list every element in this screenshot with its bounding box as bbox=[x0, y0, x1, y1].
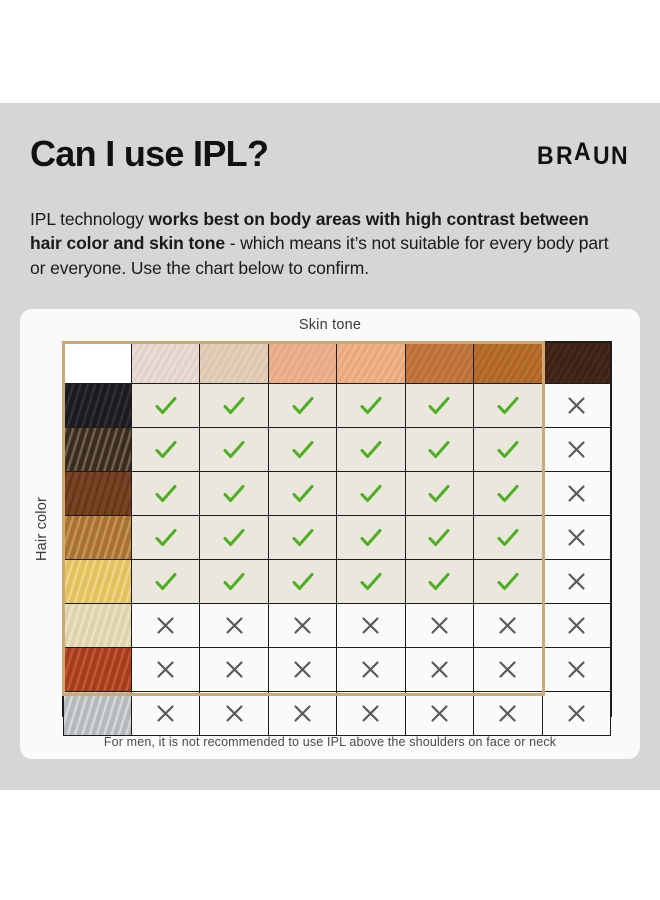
hair-color-cell bbox=[64, 692, 132, 736]
matrix-cell-cross bbox=[200, 604, 268, 648]
braun-logo: BRAUN bbox=[537, 141, 630, 171]
skin-tone-5-medium-dark bbox=[406, 343, 473, 383]
hair-brown bbox=[64, 472, 131, 515]
matrix-cell-cross bbox=[542, 648, 610, 692]
check-icon bbox=[223, 528, 245, 548]
check-icon bbox=[428, 572, 450, 592]
matrix-cell-cross bbox=[542, 560, 610, 604]
matrix-cell-check bbox=[268, 384, 336, 428]
matrix-cell-check bbox=[474, 560, 542, 604]
hair-color-cell bbox=[64, 648, 132, 692]
check-icon bbox=[428, 440, 450, 460]
check-icon bbox=[223, 572, 245, 592]
cross-icon bbox=[225, 616, 244, 635]
matrix-cell-cross bbox=[405, 604, 473, 648]
matrix-cell-cross bbox=[474, 604, 542, 648]
cross-icon bbox=[567, 528, 586, 547]
skin-tone-6-dark bbox=[474, 343, 541, 383]
hair-dark-brown bbox=[64, 428, 131, 471]
cross-icon bbox=[225, 660, 244, 679]
check-icon bbox=[223, 484, 245, 504]
cross-icon bbox=[361, 660, 380, 679]
cross-icon bbox=[156, 660, 175, 679]
table-row bbox=[64, 516, 611, 560]
cross-icon bbox=[225, 704, 244, 723]
cross-icon bbox=[567, 660, 586, 679]
matrix-cell-cross bbox=[542, 428, 610, 472]
check-icon bbox=[360, 440, 382, 460]
hair-red bbox=[64, 648, 131, 691]
cross-icon bbox=[567, 616, 586, 635]
skin-tone-cell bbox=[337, 343, 405, 384]
skin-tone-1-very-light bbox=[132, 343, 199, 383]
check-icon bbox=[497, 396, 519, 416]
matrix-cell-check bbox=[268, 560, 336, 604]
check-icon bbox=[155, 396, 177, 416]
skin-tone-axis-label: Skin tone bbox=[20, 317, 640, 333]
matrix-cell-cross bbox=[542, 604, 610, 648]
matrix-cell-check bbox=[474, 428, 542, 472]
cross-icon bbox=[361, 616, 380, 635]
matrix-cell-cross bbox=[542, 384, 610, 428]
logo-letter-n: N bbox=[611, 141, 628, 171]
matrix-cell-cross bbox=[200, 648, 268, 692]
table-row bbox=[64, 692, 611, 736]
matrix-cell-cross bbox=[337, 604, 405, 648]
check-icon bbox=[497, 484, 519, 504]
check-icon bbox=[360, 528, 382, 548]
matrix-cell-cross bbox=[474, 648, 542, 692]
hair-golden-blonde bbox=[64, 560, 131, 603]
hair-light-blonde bbox=[64, 604, 131, 647]
matrix-cell-cross bbox=[337, 692, 405, 736]
logo-letter-a: A bbox=[574, 137, 591, 167]
cross-icon bbox=[498, 616, 517, 635]
check-icon bbox=[292, 572, 314, 592]
matrix-corner-cell bbox=[64, 343, 132, 384]
matrix-cell-check bbox=[474, 472, 542, 516]
skin-tone-2-light bbox=[200, 343, 267, 383]
cross-icon bbox=[567, 396, 586, 415]
check-icon bbox=[155, 572, 177, 592]
check-icon bbox=[292, 528, 314, 548]
matrix-cell-check bbox=[405, 516, 473, 560]
cross-icon bbox=[430, 616, 449, 635]
check-icon bbox=[428, 528, 450, 548]
matrix-cell-cross bbox=[405, 648, 473, 692]
cross-icon bbox=[293, 660, 312, 679]
check-icon bbox=[292, 440, 314, 460]
matrix-cell-check bbox=[337, 384, 405, 428]
cross-icon bbox=[567, 484, 586, 503]
cross-icon bbox=[430, 704, 449, 723]
matrix-cell-check bbox=[132, 472, 200, 516]
cross-icon bbox=[567, 704, 586, 723]
hair-color-cell bbox=[64, 560, 132, 604]
cross-icon bbox=[293, 616, 312, 635]
matrix-cell-cross bbox=[132, 604, 200, 648]
check-icon bbox=[497, 572, 519, 592]
matrix-cell-cross bbox=[474, 692, 542, 736]
matrix-cell-check bbox=[337, 560, 405, 604]
intro-paragraph: IPL technology works best on body areas … bbox=[30, 207, 610, 281]
intro-lead: IPL technology bbox=[30, 209, 149, 229]
cross-icon bbox=[361, 704, 380, 723]
matrix-cell-check bbox=[474, 384, 542, 428]
skin-tone-cell bbox=[405, 343, 473, 384]
matrix-cell-check bbox=[200, 516, 268, 560]
matrix-cell-cross bbox=[268, 648, 336, 692]
logo-letter-u: U bbox=[593, 141, 610, 171]
matrix-cell-check bbox=[132, 516, 200, 560]
table-row bbox=[64, 384, 611, 428]
matrix-cell-check bbox=[405, 560, 473, 604]
cross-icon bbox=[498, 704, 517, 723]
matrix-cell-check bbox=[337, 428, 405, 472]
check-icon bbox=[360, 396, 382, 416]
hair-color-cell bbox=[64, 428, 132, 472]
header: Can I use IPL? BRAUN bbox=[30, 133, 630, 179]
matrix-cell-check bbox=[474, 516, 542, 560]
matrix-cell-check bbox=[405, 428, 473, 472]
table-row bbox=[64, 560, 611, 604]
matrix-cell-check bbox=[268, 472, 336, 516]
skin-tone-7-very-dark bbox=[543, 343, 610, 383]
matrix-cell-cross bbox=[268, 604, 336, 648]
check-icon bbox=[155, 440, 177, 460]
matrix-cell-check bbox=[132, 428, 200, 472]
skin-tone-cell bbox=[474, 343, 542, 384]
matrix-cell-cross bbox=[542, 516, 610, 560]
footnote: For men, it is not recommended to use IP… bbox=[20, 735, 640, 749]
check-icon bbox=[223, 396, 245, 416]
hair-black bbox=[64, 384, 131, 427]
matrix-cell-cross bbox=[542, 692, 610, 736]
hair-color-cell bbox=[64, 384, 132, 428]
check-icon bbox=[292, 396, 314, 416]
matrix-cell-check bbox=[200, 560, 268, 604]
matrix-cell-check bbox=[268, 428, 336, 472]
hair-color-cell bbox=[64, 472, 132, 516]
skin-tone-cell bbox=[132, 343, 200, 384]
check-icon bbox=[155, 484, 177, 504]
skin-tone-header-row bbox=[64, 343, 611, 384]
cross-icon bbox=[498, 660, 517, 679]
check-icon bbox=[292, 484, 314, 504]
matrix-cell-check bbox=[132, 560, 200, 604]
check-icon bbox=[428, 484, 450, 504]
matrix-cell-cross bbox=[405, 692, 473, 736]
skin-tone-3-light-medium bbox=[269, 343, 336, 383]
hair-grey bbox=[64, 692, 131, 735]
skin-tone-cell bbox=[268, 343, 336, 384]
check-icon bbox=[428, 396, 450, 416]
hair-color-cell bbox=[64, 516, 132, 560]
hair-light-brown bbox=[64, 516, 131, 559]
matrix-cell-cross bbox=[542, 472, 610, 516]
matrix-cell-check bbox=[405, 472, 473, 516]
page-title: Can I use IPL? bbox=[30, 133, 268, 175]
table-row bbox=[64, 472, 611, 516]
check-icon bbox=[497, 440, 519, 460]
check-icon bbox=[155, 528, 177, 548]
infographic-panel: Can I use IPL? BRAUN IPL technology work… bbox=[0, 103, 660, 790]
matrix-cell-cross bbox=[132, 692, 200, 736]
cross-icon bbox=[293, 704, 312, 723]
table-row bbox=[64, 428, 611, 472]
cross-icon bbox=[567, 440, 586, 459]
matrix-cell-check bbox=[200, 384, 268, 428]
matrix-cell-check bbox=[200, 472, 268, 516]
matrix-cell-cross bbox=[337, 648, 405, 692]
cross-icon bbox=[567, 572, 586, 591]
table-row bbox=[64, 648, 611, 692]
cross-icon bbox=[156, 616, 175, 635]
hair-color-cell bbox=[64, 604, 132, 648]
matrix-cell-cross bbox=[200, 692, 268, 736]
matrix-cell-cross bbox=[132, 648, 200, 692]
matrix-cell-cross bbox=[268, 692, 336, 736]
logo-letter-r: R bbox=[556, 141, 573, 171]
chart-card: Skin tone Hair color For men, it is not … bbox=[20, 309, 640, 759]
hair-color-axis-label: Hair color bbox=[34, 474, 50, 584]
matrix-cell-check bbox=[337, 516, 405, 560]
check-icon bbox=[360, 484, 382, 504]
skin-tone-cell bbox=[542, 343, 610, 384]
check-icon bbox=[223, 440, 245, 460]
cross-icon bbox=[156, 704, 175, 723]
matrix-cell-check bbox=[268, 516, 336, 560]
check-icon bbox=[360, 572, 382, 592]
matrix-cell-check bbox=[132, 384, 200, 428]
skin-tone-4-medium bbox=[337, 343, 404, 383]
table-row bbox=[64, 604, 611, 648]
cross-icon bbox=[430, 660, 449, 679]
logo-letter-b: B bbox=[537, 141, 554, 171]
matrix-cell-check bbox=[337, 472, 405, 516]
matrix-cell-check bbox=[200, 428, 268, 472]
check-icon bbox=[497, 528, 519, 548]
skin-tone-cell bbox=[200, 343, 268, 384]
compatibility-matrix bbox=[62, 341, 612, 717]
matrix-cell-check bbox=[405, 384, 473, 428]
